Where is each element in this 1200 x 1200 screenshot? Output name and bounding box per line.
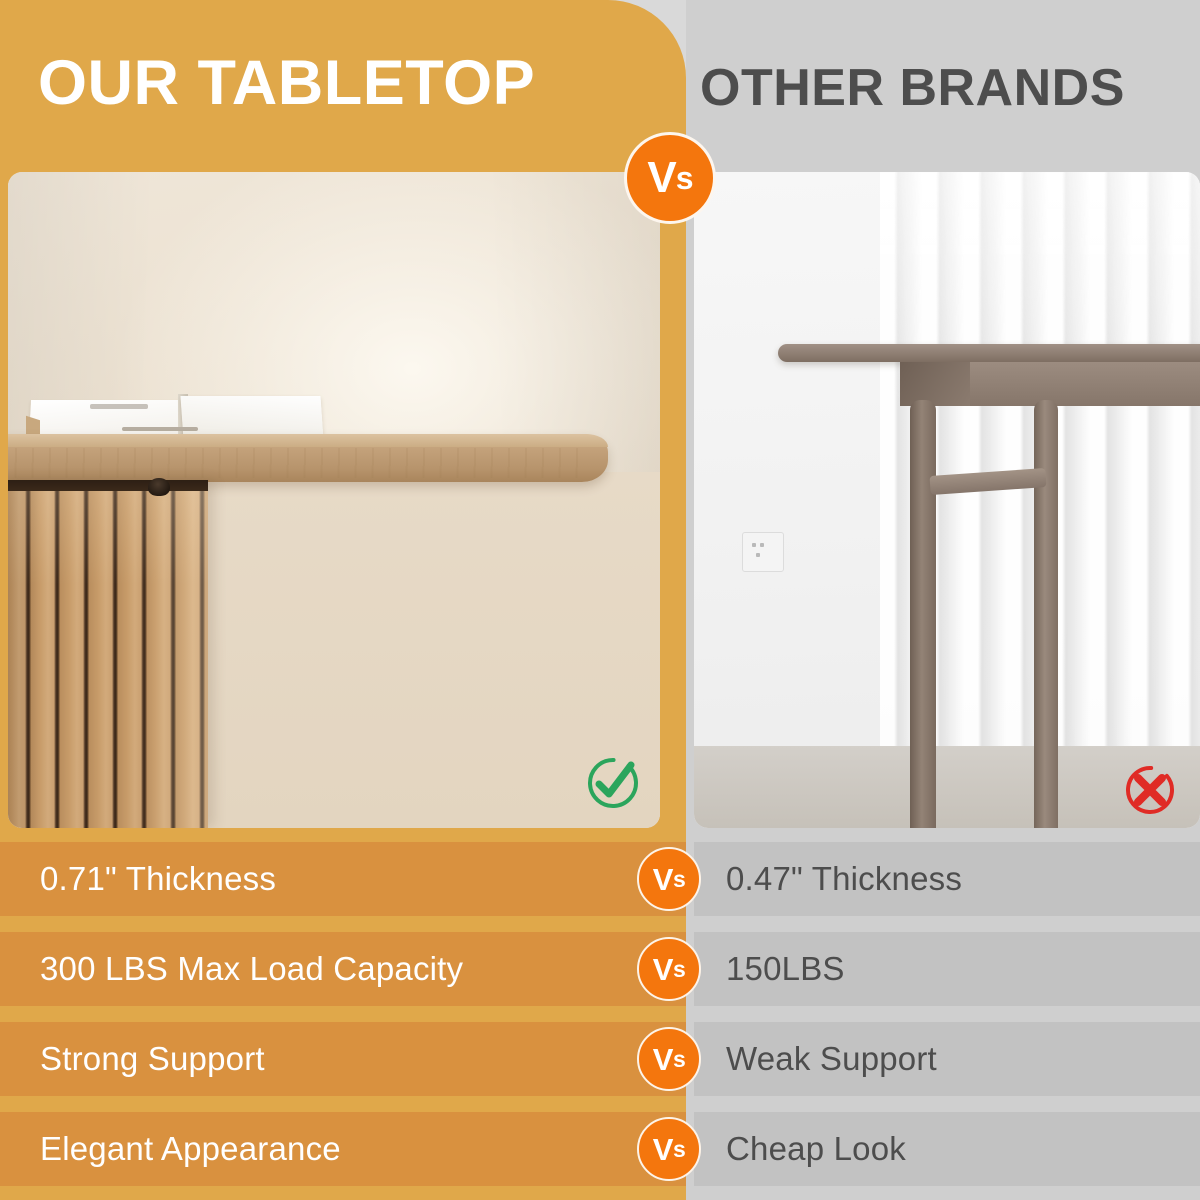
page-title-others: OTHER BRANDS	[700, 62, 1125, 114]
cabinet-knob	[148, 478, 170, 496]
page-title-ours: OUR TABLETOP	[38, 52, 535, 115]
vs-row-v: V	[653, 864, 673, 895]
wall-outlet	[742, 532, 784, 572]
row-theirs-cell: 150LBS	[694, 932, 1200, 1006]
table-row: Elegant Appearance Cheap Look Vs	[0, 1112, 1200, 1186]
row-theirs-cell: 0.47" Thickness	[694, 842, 1200, 916]
product-photo-others	[694, 172, 1200, 828]
row-ours-label: 300 LBS Max Load Capacity	[0, 950, 463, 988]
row-ours-cell: 0.71" Thickness	[0, 842, 686, 916]
row-theirs-cell: Weak Support	[694, 1022, 1200, 1096]
vs-badge-s: s	[676, 162, 693, 194]
slatted-wood-cabinet	[8, 480, 208, 828]
vs-badge-header: Vs	[624, 132, 716, 224]
vs-row-s: s	[673, 1048, 685, 1071]
row-ours-cell: 300 LBS Max Load Capacity	[0, 932, 686, 1006]
vs-row-v: V	[653, 1044, 673, 1075]
vs-badge-row: Vs	[637, 1027, 701, 1091]
outlet-slot-3	[756, 553, 760, 557]
row-theirs-label: Weak Support	[694, 1040, 937, 1078]
row-ours-label: Elegant Appearance	[0, 1130, 341, 1168]
oak-tabletop-surface	[8, 434, 608, 482]
table-row: 0.71" Thickness 0.47" Thickness Vs	[0, 842, 1200, 916]
row-ours-label: 0.71" Thickness	[0, 860, 276, 898]
green-check-circle-icon	[585, 755, 641, 811]
red-cross-circle-icon	[1122, 762, 1178, 818]
table-row: Strong Support Weak Support Vs	[0, 1022, 1200, 1096]
vs-row-v: V	[653, 1134, 673, 1165]
table-row: 300 LBS Max Load Capacity 150LBS Vs	[0, 932, 1200, 1006]
vs-badge-row: Vs	[637, 847, 701, 911]
book-text-line-1	[90, 404, 148, 409]
row-ours-cell: Elegant Appearance	[0, 1112, 686, 1186]
product-photo-ours	[8, 172, 660, 828]
table-leg-front	[910, 400, 936, 828]
table-leg-back	[1034, 400, 1058, 828]
vs-badge-row: Vs	[637, 937, 701, 1001]
row-ours-cell: Strong Support	[0, 1022, 686, 1096]
row-theirs-label: 150LBS	[694, 950, 845, 988]
outlet-slot-1	[752, 543, 756, 547]
row-theirs-label: Cheap Look	[694, 1130, 906, 1168]
vs-row-v: V	[653, 954, 673, 985]
row-theirs-cell: Cheap Look	[694, 1112, 1200, 1186]
comparison-poster: OUR TABLETOP OTHER BRANDS	[0, 0, 1200, 1200]
vs-row-s: s	[673, 958, 685, 981]
thin-tabletop-surface	[778, 344, 1200, 362]
vs-row-s: s	[673, 1138, 685, 1161]
comparison-rows: 0.71" Thickness 0.47" Thickness Vs 300 L…	[0, 842, 1200, 1200]
vs-badge-v: V	[647, 156, 675, 200]
row-theirs-label: 0.47" Thickness	[694, 860, 962, 898]
outlet-slot-2	[760, 543, 764, 547]
vs-row-s: s	[673, 868, 685, 891]
row-ours-label: Strong Support	[0, 1040, 265, 1078]
book-text-line-2	[122, 427, 198, 431]
vs-badge-row: Vs	[637, 1117, 701, 1181]
